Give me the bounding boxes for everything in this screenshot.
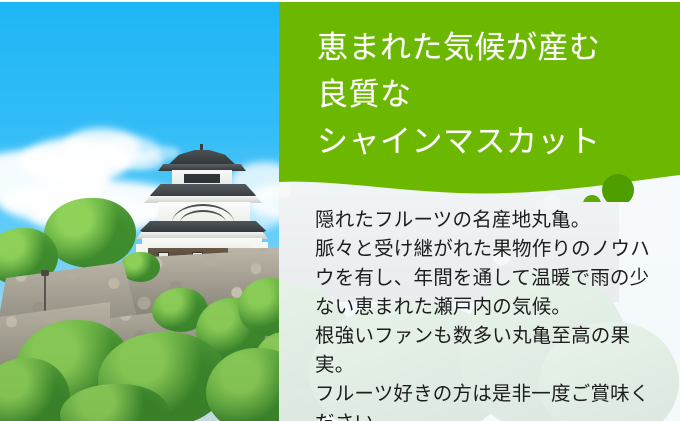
- lamp-post-head: [41, 270, 49, 276]
- castle-keep: [136, 132, 268, 257]
- body-copy: 隠れたフルーツの名産地丸亀。 脈々と受け継がれた果物作りのノウハウを有し、年間を…: [315, 206, 667, 421]
- tier-1-window: [184, 174, 220, 183]
- promo-banner: 恵まれた気候が産む 良質な シャインマスカット 隠れたフルーツの名産地丸亀。 脈…: [0, 0, 680, 421]
- content-panel: 恵まれた気候が産む 良質な シャインマスカット 隠れたフルーツの名産地丸亀。 脈…: [279, 2, 680, 421]
- green-circle-small: [583, 195, 601, 202]
- headline: 恵まれた気候が産む 良質な シャインマスカット: [317, 24, 667, 165]
- top-white-rule: [0, 0, 680, 2]
- castle-photo: [0, 2, 279, 421]
